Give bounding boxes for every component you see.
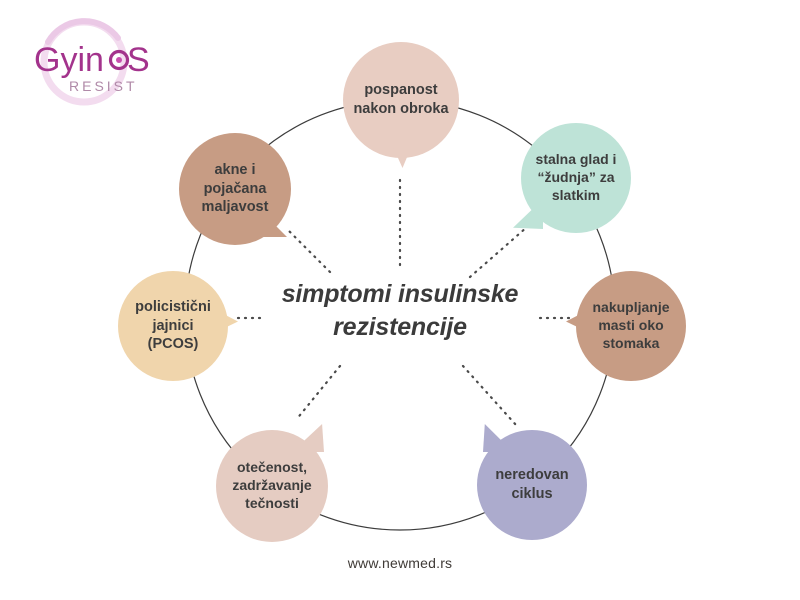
bubble-pcos-line1: policistični xyxy=(135,299,211,315)
bubble-akne[interactable]: akne i pojačana maljavost xyxy=(179,133,291,245)
bubble-masti-line1: nakupljanje xyxy=(592,299,669,315)
bubble-otecenost-line2: zadržavanje xyxy=(232,477,311,493)
bubble-pcos-line2: jajnici xyxy=(152,318,193,334)
bubble-akne-line3: maljavost xyxy=(202,199,269,215)
bubble-pospanost[interactable]: pospanost nakon obroka xyxy=(343,42,459,158)
connector-otecenost xyxy=(296,366,340,420)
bubble-otecenost[interactable]: otečenost, zadržavanje tečnosti xyxy=(216,430,328,542)
bubble-label-masti: nakupljanje masti oko stomaka xyxy=(586,299,675,353)
bubble-ciklus[interactable]: neredovan ciklus xyxy=(477,430,587,540)
bubble-glad-line2: “žudnja” za xyxy=(537,169,614,185)
bubble-masti[interactable]: nakupljanje masti oko stomaka xyxy=(576,271,686,381)
bubble-glad[interactable]: stalna glad i “žudnja” za slatkim xyxy=(521,123,631,233)
bubble-label-akne: akne i pojačana maljavost xyxy=(196,161,275,217)
bubble-akne-line1: akne i xyxy=(214,162,255,178)
bubble-label-ciklus: neredovan ciklus xyxy=(489,466,574,503)
bubble-label-glad: stalna glad i “žudnja” za slatkim xyxy=(530,151,623,205)
center-title-line2: rezistencije xyxy=(250,311,550,344)
bubble-otecenost-line1: otečenost, xyxy=(237,459,307,475)
bubble-pcos-line3: (PCOS) xyxy=(148,336,199,352)
bubble-glad-line1: stalna glad i xyxy=(536,151,617,167)
bubble-pospanost-line1: pospanost xyxy=(364,82,437,98)
bubble-masti-line2: masti oko xyxy=(598,317,663,333)
connector-glad xyxy=(470,227,527,277)
connector-ciklus xyxy=(463,366,516,425)
connector-akne xyxy=(286,228,330,272)
bubble-label-pcos: policistični jajnici (PCOS) xyxy=(129,298,217,354)
bubble-ciklus-line1: neredovan xyxy=(495,467,568,483)
bubble-label-otecenost: otečenost, zadržavanje tečnosti xyxy=(226,459,317,513)
infographic-canvas: Gyin S RESIST simptomi insulinske rezist… xyxy=(0,0,800,600)
page-title: simptomi insulinske rezistencije xyxy=(250,278,550,344)
bubble-otecenost-line3: tečnosti xyxy=(245,495,299,511)
center-title-line1: simptomi insulinske xyxy=(250,278,550,311)
bubble-pospanost-line2: nakon obroka xyxy=(353,101,448,117)
bubble-label-pospanost: pospanost nakon obroka xyxy=(347,81,454,118)
bubble-masti-line3: stomaka xyxy=(603,335,660,351)
bubble-glad-line3: slatkim xyxy=(552,187,600,203)
bubble-akne-line2: pojačana xyxy=(204,181,267,197)
bubble-ciklus-line2: ciklus xyxy=(511,486,552,502)
bubble-pcos[interactable]: policistični jajnici (PCOS) xyxy=(118,271,228,381)
footer-website-url[interactable]: www.newmed.rs xyxy=(0,555,800,571)
